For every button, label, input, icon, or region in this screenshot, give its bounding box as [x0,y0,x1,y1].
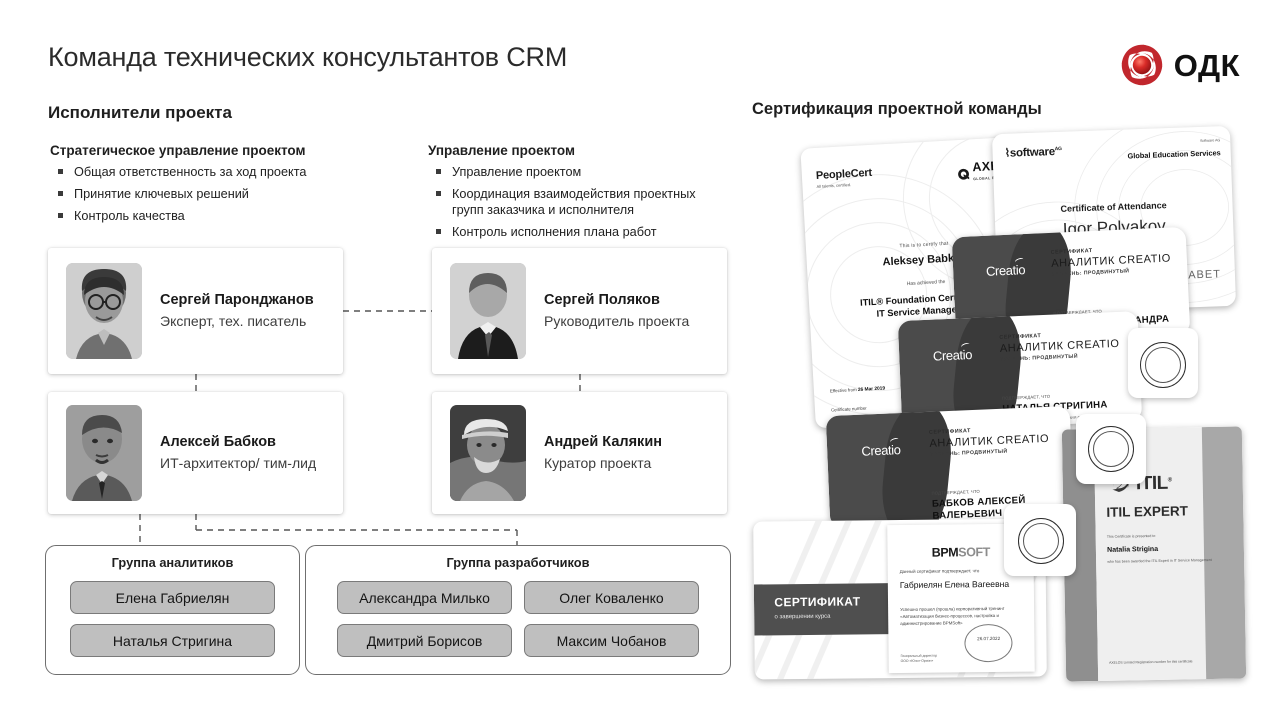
person-role: ИТ-архитектор/ тим-лид [160,453,316,473]
creatio-logo-icon: Creatio [861,442,901,459]
effective-date: 26 Mar 2019 [858,386,885,393]
column-heading-strategic: Стратегическое управление проектом [50,143,305,158]
group-box-developers: Группа разработчиков Александра Милько О… [305,545,731,675]
person-role: Эксперт, тех. писатель [160,311,314,331]
certificate-body: Успешно прошел (прошла) корпоративный тр… [900,605,1026,627]
group-title: Группа разработчиков [306,555,730,570]
avatar [66,263,142,359]
person-name: Сергей Паронджанов [160,291,314,310]
partner-name: Global Education Services [1127,148,1221,160]
certification-section-title: Сертификация проектной команды [752,100,1042,119]
slide-root: Команда технических консультантов CRM [0,0,1280,720]
person-role: Куратор проекта [544,453,662,473]
brand-name: ОДК [1174,50,1240,81]
column-heading-management: Управление проектом [428,143,575,158]
person-name: Андрей Калякин [544,433,662,452]
accreditation-seal-icon [1140,342,1186,388]
stamp-date: 26.07.2022 [966,635,1012,640]
group-member-chip[interactable]: Александра Милько [337,581,512,614]
group-member-list: Александра Милько Олег Коваленко Дмитрий… [306,581,730,657]
odk-swirl-logo-icon [1119,42,1165,88]
brand-logo: ОДК [1119,42,1240,88]
person-name: Алексей Бабков [160,433,316,452]
accreditation-seal-icon [1018,518,1064,564]
bullet-list-management: Управление проектом Координация взаимоде… [430,164,730,246]
avatar [66,405,142,501]
effective-label: Effective from [830,387,857,393]
bullet-list-strategic: Общая ответственность за ход проекта При… [52,164,382,230]
certificate-title: ITIL EXPERT [1106,503,1188,519]
page-title: Команда технических консультантов CRM [48,42,567,73]
person-card-polyakov[interactable]: Сергей Поляков Руководитель проекта [432,248,727,374]
presented-line: This Certificate is presented to [1107,534,1156,539]
group-title: Группа аналитиков [46,555,299,570]
person-role: Руководитель проекта [544,311,689,331]
group-member-chip[interactable]: Дмитрий Борисов [337,624,512,657]
list-item: Управление проектом [430,164,730,180]
stamp-seal-icon: 26.07.2022 [964,624,1012,663]
creatio-band [826,412,923,528]
certificate-brand-tagline: All talents, certified. [816,181,872,189]
creatio-logo-icon: Creatio [986,262,1026,279]
left-section-title: Исполнители проекта [48,103,232,123]
certificate-bpmsoft[interactable]: СЕРТИФИКАТ о завершении курса BPMSOFT Да… [753,518,1047,679]
band-title: СЕРТИФИКАТ [774,595,860,610]
creatio-logo-icon: Creatio [933,347,973,364]
group-member-list: Елена Габриелян Наталья Стригина [46,581,299,657]
certificate-number-label: Certificate number [831,406,867,413]
band-subtitle: о завершении курса [774,613,830,620]
list-item: Общая ответственность за ход проекта [52,164,382,180]
group-member-chip[interactable]: Наталья Стригина [70,624,275,657]
person-card-babkov[interactable]: Алексей Бабков ИТ-архитектор/ тим-лид [48,392,343,514]
person-card-parondzhanov[interactable]: Сергей Паронджанов Эксперт, тех. писател… [48,248,343,374]
avatar [450,405,526,501]
person-name: Сергей Поляков [544,291,689,310]
group-member-chip[interactable]: Максим Чобанов [524,624,699,657]
person-card-kalyakin[interactable]: Андрей Калякин Куратор проекта [432,392,727,514]
list-item: Принятие ключевых решений [52,186,382,202]
certificate-person: Габриелян Елена Вагеевна [900,578,1029,589]
certificate-collage: PeopleCert All talents, certified. AXELO… [742,128,1262,688]
list-item: Координация взаимодействия проектных гру… [430,186,730,218]
certificate-brand: PeopleCert All talents, certified. [816,167,873,189]
signer-company: ООО «Юнит-Орион» [901,659,937,664]
group-member-chip[interactable]: Олег Коваленко [524,581,699,614]
certificate-partner: Software AG Global Education Services [1127,138,1221,163]
avatar [450,263,526,359]
certificate-person: Natalia Strigina [1107,546,1158,554]
list-item: Контроль исполнения плана работ [430,224,730,240]
certificate-brand: ⌇softwareAG [1004,144,1062,160]
accreditation-seal-icon [1088,426,1134,472]
list-item: Контроль качества [52,208,382,224]
itil-right-band [1202,426,1246,679]
group-member-chip[interactable]: Елена Габриелян [70,581,275,614]
group-box-analysts: Группа аналитиков Елена Габриелян Наталь… [45,545,300,675]
